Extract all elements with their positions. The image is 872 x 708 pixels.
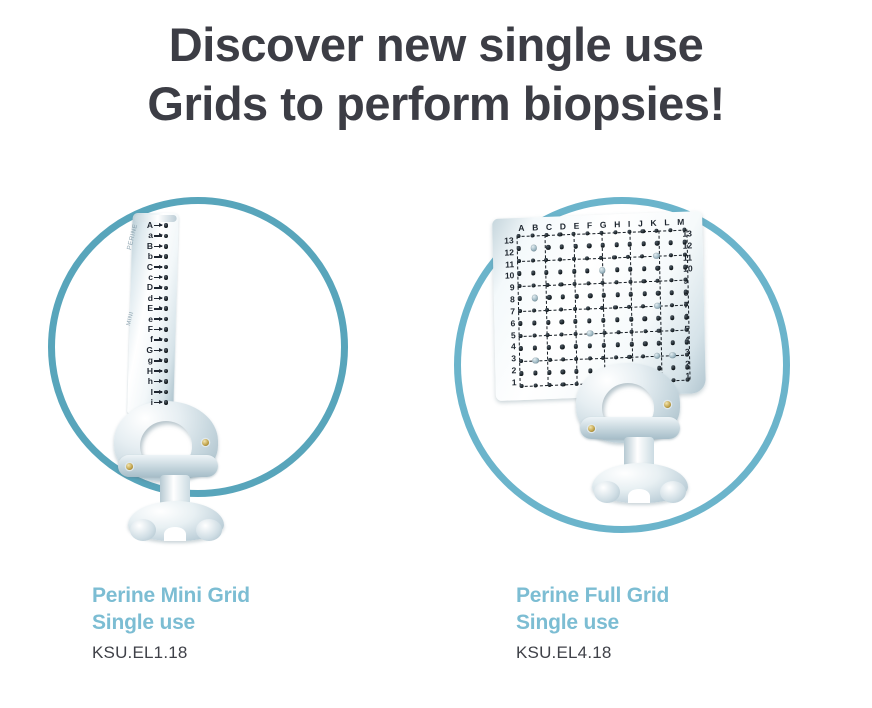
base-notch (164, 527, 186, 541)
circle-frame-mini-grid (48, 197, 348, 497)
product-card-mini-grid[interactable]: PERINE MINI AaBbCcDdEeFfGgHhIi (0, 185, 436, 695)
base-toe-left (130, 519, 156, 541)
product-title-line-1: Perine Mini Grid (92, 584, 250, 607)
base-toe-right (196, 519, 222, 541)
page-title: Discover new single use Grids to perform… (0, 16, 872, 134)
page-title-line-1: Discover new single use (0, 16, 872, 75)
product-showcase: PERINE MINI AaBbCcDdEeFfGgHhIi (0, 185, 872, 695)
product-title-full-grid: Perine Full Grid Single use (516, 583, 872, 637)
base-pad (128, 501, 224, 541)
page-title-line-2: Grids to perform biopsies! (0, 75, 872, 134)
circle-frame-full-grid (454, 197, 790, 533)
caption-full-grid: Perine Full Grid Single use KSU.EL4.18 (436, 583, 872, 663)
product-title-line-1: Perine Full Grid (516, 584, 669, 607)
product-code-full-grid: KSU.EL4.18 (516, 643, 872, 663)
product-card-full-grid[interactable]: ABCDEFGHIJKLM 13121110987654321 13121110… (436, 185, 872, 695)
product-title-line-2: Single use (516, 610, 872, 637)
